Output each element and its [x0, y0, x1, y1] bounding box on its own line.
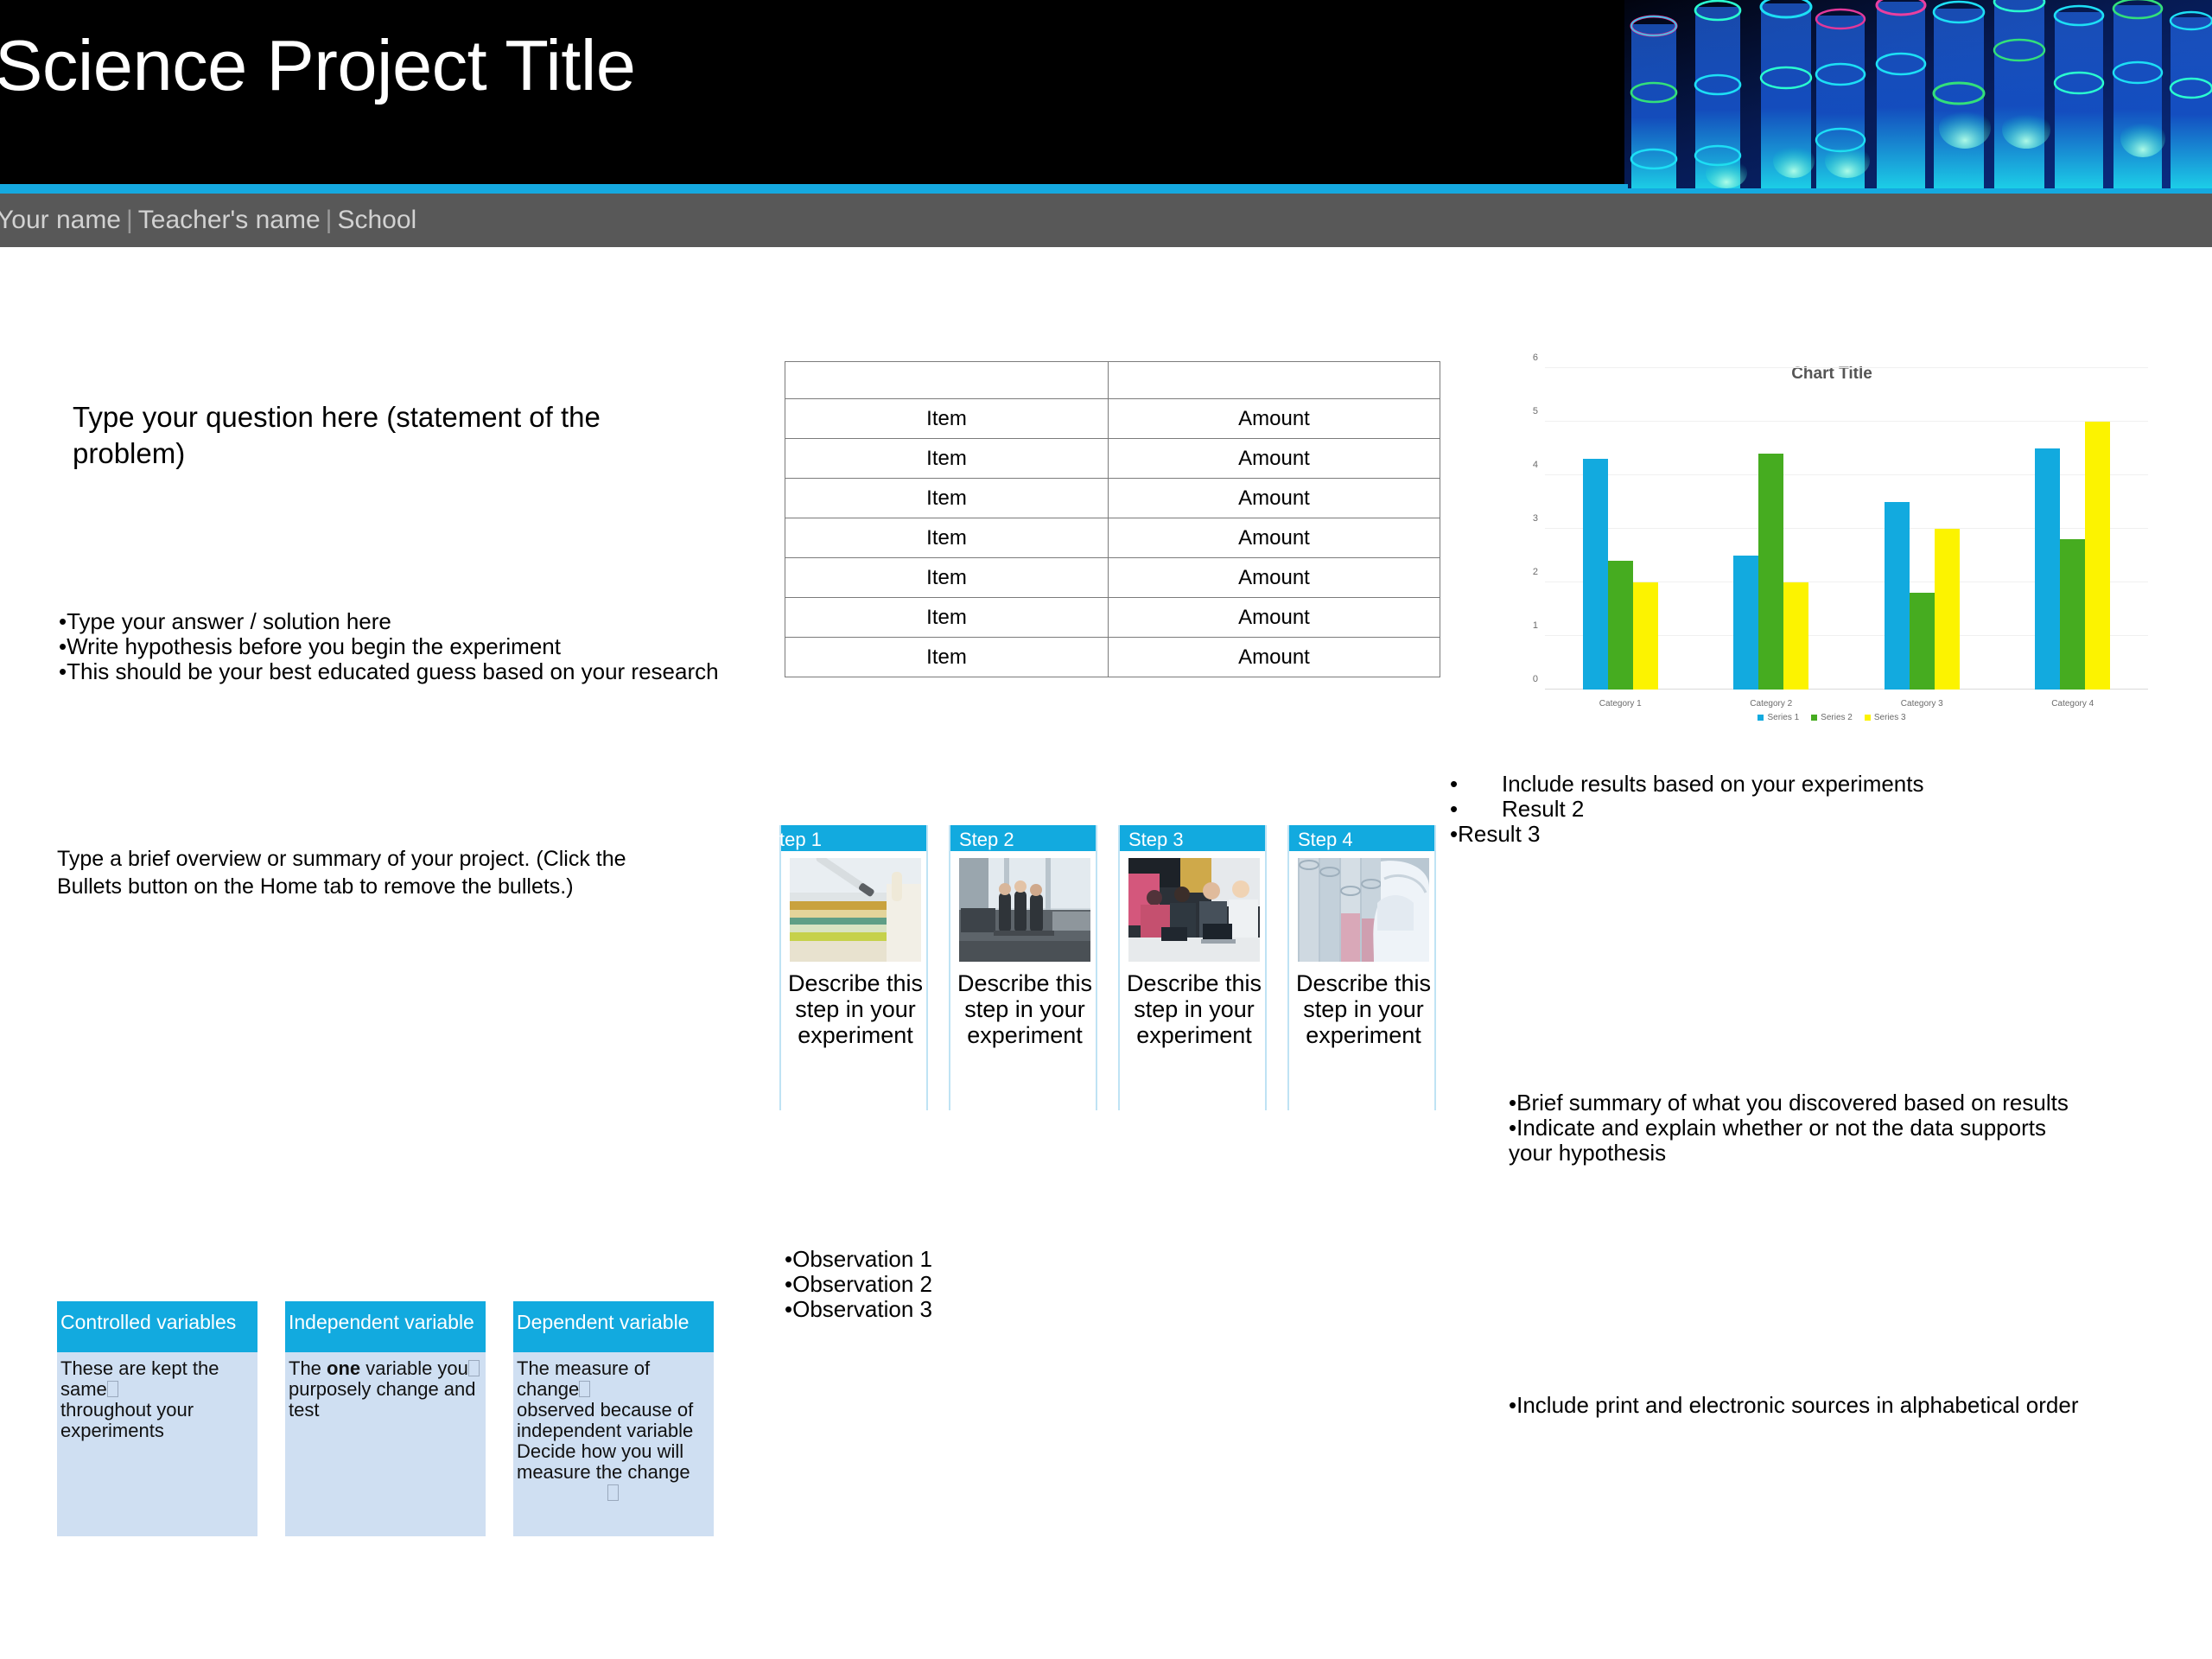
bullet-indent-gap	[1462, 797, 1502, 822]
variable-card-title: Controlled variables	[60, 1311, 236, 1334]
table-cell-amount: Amount	[1109, 439, 1440, 479]
variable-body-line-1: throughout your	[60, 1399, 194, 1421]
table-cell-item: Item	[785, 558, 1109, 598]
conclusion-bullet-0: Brief summary of what you discovered bas…	[1516, 1090, 2069, 1116]
chart-y-tick-label: 3	[1516, 513, 1538, 524]
step-card-header: Step 2	[950, 825, 1096, 851]
variable-emphasis-word: one	[327, 1357, 360, 1379]
overview-text: Type a brief overview or summary of your…	[57, 845, 696, 900]
table-row: ItemAmount	[785, 598, 1440, 638]
chart-bar	[2035, 448, 2060, 690]
list-item: •Result 2	[1450, 797, 2072, 822]
hypothesis-bullet-1: Write hypothesis before you begin the ex…	[67, 633, 561, 659]
variables-cards: Controlled variables These are kept the …	[57, 1301, 740, 1560]
table-header-cell-item	[785, 362, 1109, 399]
step-card-2[interactable]: Step 2	[949, 825, 1097, 1110]
variable-card-independent[interactable]: Independent variable The one variable yo…	[285, 1301, 486, 1536]
hypothesis-bullet-0: Type your answer / solution here	[67, 608, 391, 634]
list-item: •Observation 2	[785, 1272, 1130, 1297]
step-card-label: Step 4	[1298, 829, 1353, 851]
variable-card-dependent[interactable]: Dependent variable The measure of change…	[513, 1301, 714, 1536]
step-card-description: Describe this step in your experiment	[785, 970, 926, 1048]
byline-bar: Your name|Teacher's name|School	[0, 194, 2212, 247]
observations-bullet-list: •Observation 1 •Observation 2 •Observati…	[785, 1247, 1130, 1322]
variable-card-header: Dependent variable	[513, 1301, 714, 1352]
table-cell-item: Item	[785, 399, 1109, 439]
notebooks-and-pen-photo	[790, 858, 921, 962]
chart-bar	[1608, 561, 1633, 690]
step-card-description: Describe this step in your experiment	[954, 970, 1096, 1048]
chart-bar	[1758, 454, 1783, 690]
missing-glyph-box	[607, 1484, 619, 1501]
missing-glyph-box	[579, 1381, 590, 1397]
results-bullet-2: Result 3	[1458, 821, 1540, 847]
variable-card-body: The measure of change observed because o…	[517, 1358, 709, 1503]
variable-body-line-0: The one variable you	[289, 1357, 468, 1379]
results-bullet-0: Include results based on your experiment…	[1502, 772, 1924, 797]
list-item: •Write hypothesis before you begin the e…	[59, 634, 733, 659]
table-row: ItemAmount	[785, 518, 1440, 558]
chart-legend-swatch	[1811, 715, 1817, 721]
list-item: •Include print and electronic sources in…	[1509, 1393, 2096, 1418]
chart-y-tick-label: 5	[1516, 406, 1538, 416]
table-cell-amount: Amount	[1109, 479, 1440, 518]
conclusion-bullet-list: •Brief summary of what you discovered ba…	[1509, 1090, 2079, 1166]
chart-legend-swatch	[1758, 715, 1764, 721]
table-cell-amount: Amount	[1109, 399, 1440, 439]
byline-school: School	[337, 206, 416, 234]
variable-body-line-4: measure the change	[517, 1461, 690, 1483]
chart-legend: Series 1Series 2Series 3	[1503, 713, 2160, 722]
variable-card-title: Dependent variable	[517, 1311, 689, 1334]
variable-body-line-2: independent variable	[517, 1420, 693, 1441]
table-row: ItemAmount	[785, 638, 1440, 677]
table-header-row	[785, 362, 1440, 399]
variable-card-controlled[interactable]: Controlled variables These are kept the …	[57, 1301, 257, 1536]
variable-card-body: These are kept the same throughout your …	[60, 1358, 252, 1441]
list-item: •Result 3	[1450, 822, 2072, 847]
variable-card-body: The one variable you purposely change an…	[289, 1358, 480, 1421]
table-cell-item: Item	[785, 439, 1109, 479]
page-title: Science Project Title	[0, 24, 635, 107]
list-item: •Type your answer / solution here	[59, 609, 733, 634]
header-test-tubes-image	[1624, 0, 2212, 194]
step-card-3[interactable]: Step 3	[1118, 825, 1267, 1110]
chart-x-tick-label: Category 4	[1998, 699, 2149, 709]
chart-bar	[1583, 459, 1608, 690]
variable-body-line-3: Decide how you will	[517, 1440, 683, 1462]
chart-category-group: Category 2	[1696, 368, 1847, 690]
conclusion-bullet-1: Indicate and explain whether or not the …	[1509, 1115, 2046, 1166]
step-card-label: Step 2	[959, 829, 1014, 851]
step-card-header: Step 3	[1120, 825, 1265, 851]
missing-glyph-box	[468, 1360, 480, 1376]
bullet-glyph: •	[1450, 772, 1462, 797]
chart-category-group: Category 4	[1998, 368, 2149, 690]
table-row: ItemAmount	[785, 439, 1440, 479]
people-meeting-office-photo	[959, 858, 1090, 962]
variable-card-title: Independent variable	[289, 1311, 474, 1334]
chart-bar	[2060, 539, 2085, 690]
page-header: Science Project Title	[0, 0, 2212, 194]
step-card-4[interactable]: Step 4	[1287, 825, 1436, 1110]
step-card-label: Step 3	[1128, 829, 1184, 851]
materials-table: ItemAmount ItemAmount ItemAmount ItemAmo…	[785, 361, 1440, 677]
list-item: •Include results based on your experimen…	[1450, 772, 2072, 797]
chart-plot-area: 0123456Category 1Category 2Category 3Cat…	[1545, 368, 2148, 690]
table-cell-amount: Amount	[1109, 598, 1440, 638]
chart-bar	[1733, 556, 1758, 690]
byline-your-name: Your name	[0, 206, 121, 234]
chart-bar	[1783, 582, 1808, 690]
byline-separator-1: |	[121, 206, 138, 234]
results-bar-chart: Chart Title 0123456Category 1Category 2C…	[1503, 353, 2160, 724]
bibliography-bullet-0: Include print and electronic sources in …	[1516, 1392, 2078, 1418]
chart-x-tick-label: Category 2	[1696, 699, 1847, 709]
results-bullet-1: Result 2	[1502, 797, 1584, 822]
list-item: •Indicate and explain whether or not the…	[1509, 1116, 2079, 1166]
chart-legend-item: Series 2	[1811, 713, 1853, 722]
table-cell-amount: Amount	[1109, 518, 1440, 558]
table-row: ItemAmount	[785, 558, 1440, 598]
variable-body-line-1: observed because of	[517, 1399, 693, 1421]
chart-legend-label: Series 2	[1821, 713, 1853, 722]
byline-text: Your name|Teacher's name|School	[0, 205, 416, 236]
chart-x-tick-label: Category 1	[1545, 699, 1696, 709]
question-heading: Type your question here (statement of th…	[73, 399, 643, 472]
chart-bar	[1633, 582, 1658, 690]
table-cell-amount: Amount	[1109, 638, 1440, 677]
bullet-glyph: •	[1450, 797, 1462, 822]
chart-legend-item: Series 1	[1758, 713, 1799, 722]
variable-card-header: Independent variable	[285, 1301, 486, 1352]
variable-card-header: Controlled variables	[57, 1301, 257, 1352]
chart-bar	[1910, 593, 1935, 690]
step-card-header: Step 4	[1289, 825, 1434, 851]
table-row: ItemAmount	[785, 399, 1440, 439]
variable-body-line-1: purposely change and test	[289, 1378, 476, 1421]
students-at-laptops-photo	[1128, 858, 1260, 962]
chart-y-tick-label: 0	[1516, 674, 1538, 684]
step-card-label: tep 1	[779, 829, 822, 851]
chart-bar	[1885, 502, 1910, 690]
table-cell-item: Item	[785, 638, 1109, 677]
hypothesis-bullet-2: This should be your best educated guess …	[67, 658, 718, 684]
chart-legend-label: Series 1	[1767, 713, 1799, 722]
chart-x-tick-label: Category 3	[1847, 699, 1998, 709]
bibliography-bullet-list: •Include print and electronic sources in…	[1509, 1393, 2096, 1418]
variable-body-line-0: These are kept the same	[60, 1357, 219, 1400]
list-item: •Observation 1	[785, 1247, 1130, 1272]
header-accent-rule	[0, 184, 1628, 194]
table-cell-item: Item	[785, 518, 1109, 558]
list-item: •Brief summary of what you discovered ba…	[1509, 1090, 2079, 1116]
table-cell-item: Item	[785, 479, 1109, 518]
gloved-hand-test-tubes-photo	[1298, 858, 1429, 962]
chart-y-tick-label: 4	[1516, 460, 1538, 470]
bullet-indent-gap	[1462, 772, 1502, 797]
table-row: ItemAmount	[785, 479, 1440, 518]
chart-category-group: Category 1	[1545, 368, 1696, 690]
chart-category-group: Category 3	[1847, 368, 1998, 690]
step-card-1[interactable]: tep 1 Describe this step in your	[779, 825, 928, 1110]
chart-legend-swatch	[1865, 715, 1871, 721]
variable-body-line-2: experiments	[60, 1420, 164, 1441]
table-cell-amount: Amount	[1109, 558, 1440, 598]
chart-y-tick-label: 2	[1516, 567, 1538, 577]
byline-teacher-name: Teacher's name	[138, 206, 321, 234]
chart-bar	[1935, 529, 1960, 690]
chart-bar	[2085, 422, 2110, 690]
procedure-steps: tep 1 Describe this step in your	[783, 825, 1465, 1110]
list-item: •This should be your best educated guess…	[59, 659, 733, 684]
step-card-description: Describe this step in your experiment	[1293, 970, 1434, 1048]
chart-y-tick-label: 6	[1516, 353, 1538, 363]
table-header-cell-amount	[1109, 362, 1440, 399]
missing-glyph-box	[107, 1381, 118, 1397]
observations-bullet-2: Observation 3	[792, 1296, 932, 1322]
table-cell-item: Item	[785, 598, 1109, 638]
observations-bullet-1: Observation 2	[792, 1271, 932, 1297]
hypothesis-bullet-list: •Type your answer / solution here •Write…	[59, 609, 733, 684]
chart-legend-label: Series 3	[1874, 713, 1906, 722]
list-item: •Observation 3	[785, 1297, 1130, 1322]
observations-bullet-0: Observation 1	[792, 1246, 932, 1272]
chart-y-tick-label: 1	[1516, 620, 1538, 631]
step-card-header: tep 1	[781, 825, 926, 851]
chart-legend-item: Series 3	[1865, 713, 1906, 722]
results-bullet-list: •Include results based on your experimen…	[1450, 772, 2072, 847]
step-card-description: Describe this step in your experiment	[1123, 970, 1265, 1048]
byline-separator-2: |	[321, 206, 338, 234]
